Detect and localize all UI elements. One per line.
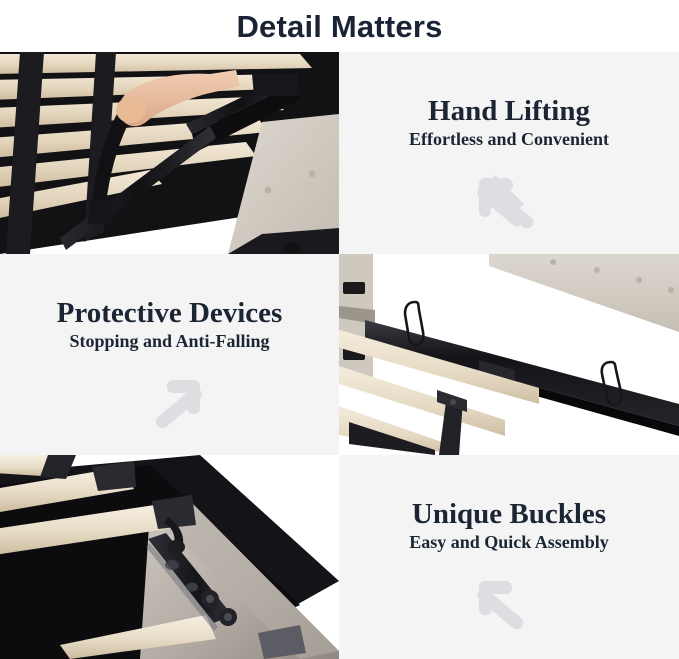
panel-subtitle: Stopping and Anti-Falling bbox=[69, 332, 269, 352]
panel-subtitle: Effortless and Convenient bbox=[409, 130, 609, 150]
detail-grid: Hand Lifting Effortless and Convenient P… bbox=[0, 52, 679, 659]
panel-unique-buckles: Unique Buckles Easy and Quick Assembly bbox=[339, 455, 679, 659]
panel-hand-lifting: Hand Lifting Effortless and Convenient bbox=[339, 52, 679, 254]
panel-title: Unique Buckles bbox=[412, 499, 606, 530]
protective-devices-photo bbox=[339, 254, 679, 455]
unique-buckles-illustration bbox=[0, 455, 339, 659]
hand-lifting-photo bbox=[0, 52, 339, 254]
arrow-up-left-icon bbox=[473, 569, 545, 635]
page-title: Detail Matters bbox=[236, 11, 442, 42]
panel-title: Hand Lifting bbox=[428, 96, 590, 127]
panel-subtitle: Easy and Quick Assembly bbox=[409, 533, 609, 553]
panel-protective-devices: Protective Devices Stopping and Anti-Fal… bbox=[0, 254, 339, 455]
arrow-up-right-icon bbox=[134, 368, 206, 434]
protective-devices-illustration bbox=[339, 254, 679, 455]
hand-lifting-illustration bbox=[0, 52, 339, 254]
arrow-up-left-icon bbox=[473, 166, 545, 232]
panel-title: Protective Devices bbox=[57, 298, 283, 329]
page-header: Detail Matters bbox=[0, 0, 679, 52]
unique-buckles-photo bbox=[0, 455, 339, 659]
